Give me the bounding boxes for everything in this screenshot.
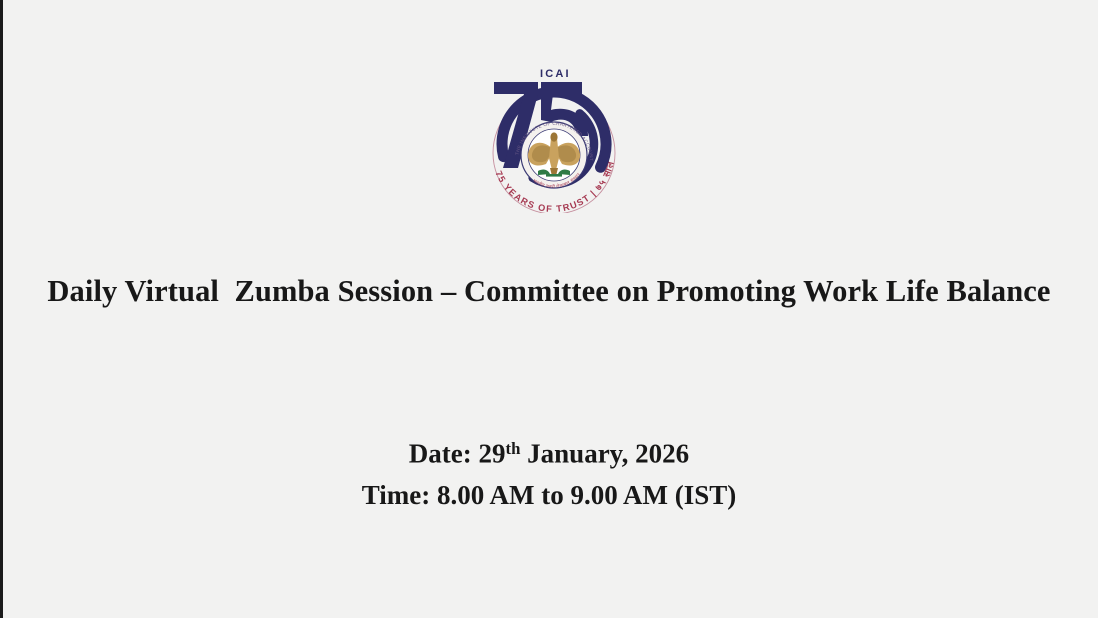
session-time-line: Time: 8.00 AM to 9.00 AM (IST): [0, 474, 1098, 516]
icai-75-logo-svg: 75 YEARS OF TRUST | ७५ साल विश्वास की IC…: [478, 58, 628, 213]
session-date-prefix: Date: 29: [409, 438, 506, 468]
slide-title: Daily Virtual Zumba Session – Committee …: [0, 272, 1098, 310]
session-date-line: Date: 29th January, 2026: [0, 428, 1098, 474]
session-date-rest: January, 2026: [520, 438, 689, 468]
icai-75-logo: 75 YEARS OF TRUST | ७५ साल विश्वास की IC…: [478, 58, 628, 213]
session-details: Date: 29th January, 2026 Time: 8.00 AM t…: [0, 428, 1098, 516]
session-date-ordinal-suffix: th: [506, 439, 521, 458]
presentation-slide: 75 YEARS OF TRUST | ७५ साल विश्वास की IC…: [0, 0, 1098, 618]
logo-acronym-text: ICAI: [540, 68, 571, 80]
